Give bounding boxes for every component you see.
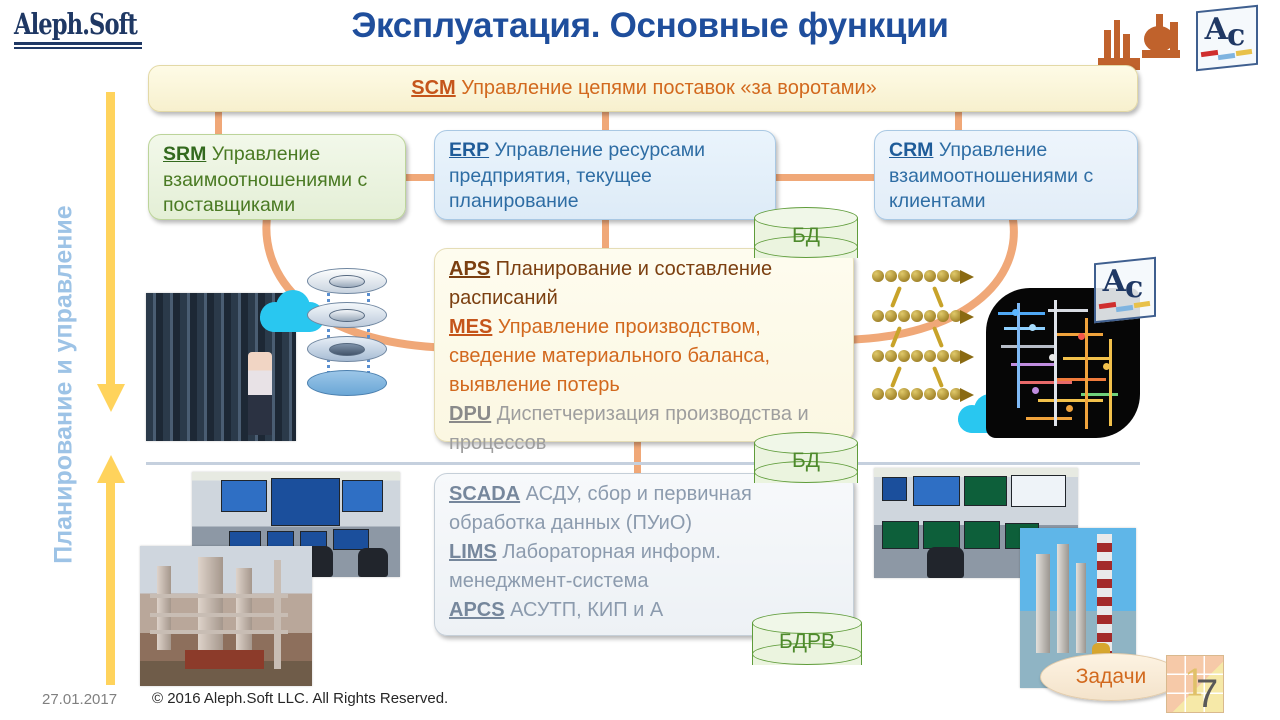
refinery-photo bbox=[140, 546, 312, 686]
ac-cube-logo-icon: A c bbox=[1094, 260, 1156, 320]
slide-date: 27.01.2017 bbox=[42, 691, 117, 708]
up-arrow-icon bbox=[96, 455, 126, 685]
scm-abbr: SCM bbox=[411, 77, 455, 99]
tasks-badge[interactable]: Задачи bbox=[1040, 653, 1182, 701]
copyright-text: © 2016 Aleph.Soft LLC. All Rights Reserv… bbox=[152, 690, 448, 707]
logo-rule-2 bbox=[14, 47, 142, 49]
crm-box[interactable]: CRM Управление взаимоотношениями с клиен… bbox=[874, 130, 1138, 220]
logo-rule-1 bbox=[14, 42, 142, 45]
srm-abbr: SRM bbox=[163, 143, 206, 165]
db-label: БД bbox=[754, 449, 858, 473]
disk-platters-icon bbox=[307, 268, 387, 396]
database-cylinder-mid: БД bbox=[754, 432, 858, 472]
scada-line: SCADA АСДУ, сбор и первичная обработка д… bbox=[449, 480, 843, 538]
dpu-abbr: DPU bbox=[449, 403, 491, 425]
aps-abbr: APS bbox=[449, 258, 490, 280]
page-title: Эксплуатация. Основные функции bbox=[250, 6, 1050, 46]
database-cylinder-realtime: БДРВ bbox=[752, 612, 862, 654]
ac-cube-logo-icon: A c bbox=[1196, 8, 1258, 68]
apcs-text: АСУТП, КИП и А bbox=[505, 599, 664, 621]
dbrv-label: БДРВ bbox=[752, 630, 862, 654]
scm-banner[interactable]: SCM Управление цепями поставок «за ворот… bbox=[148, 65, 1138, 112]
mes-line: MES Управление производством, сведение м… bbox=[449, 313, 843, 400]
aps-line: APS Планирование и составление расписани… bbox=[449, 255, 843, 313]
crm-abbr: CRM bbox=[889, 139, 933, 161]
mes-text: Управление производством, сведение матер… bbox=[449, 316, 770, 396]
connector-erp-crm bbox=[772, 174, 878, 181]
erp-box[interactable]: ERP Управление ресурсами предприятия, те… bbox=[434, 130, 776, 220]
down-arrow-icon bbox=[96, 92, 126, 422]
database-cylinder-top: БД bbox=[754, 207, 858, 247]
scm-text: Управление цепями поставок «за воротами» bbox=[456, 77, 877, 99]
scada-abbr: SCADA bbox=[449, 483, 520, 505]
page-number: 7 bbox=[1196, 672, 1218, 717]
mes-abbr: MES bbox=[449, 316, 492, 338]
lims-line: LIMS Лабораторная информ. менеджмент-сис… bbox=[449, 538, 843, 596]
section-divider bbox=[146, 462, 1140, 465]
apcs-abbr: APCS bbox=[449, 599, 505, 621]
aps-mes-dpu-box[interactable]: APS Планирование и составление расписани… bbox=[434, 248, 854, 442]
lims-abbr: LIMS bbox=[449, 541, 497, 563]
db-label: БД bbox=[754, 224, 858, 248]
erp-abbr: ERP bbox=[449, 139, 489, 161]
aps-text: Планирование и составление расписаний bbox=[449, 258, 772, 309]
aleph-soft-logo: Aleph.Soft bbox=[14, 8, 154, 54]
left-axis-caption: Планирование и управление bbox=[50, 125, 79, 645]
logo-wordmark: Aleph.Soft bbox=[14, 8, 123, 41]
bead-arrows-icon bbox=[872, 270, 992, 400]
factory-icon bbox=[1098, 8, 1188, 70]
srm-box[interactable]: SRM Управление взаимоотношениями с поста… bbox=[148, 134, 406, 220]
slide-canvas: Aleph.Soft Эксплуатация. Основные функци… bbox=[0, 0, 1280, 720]
